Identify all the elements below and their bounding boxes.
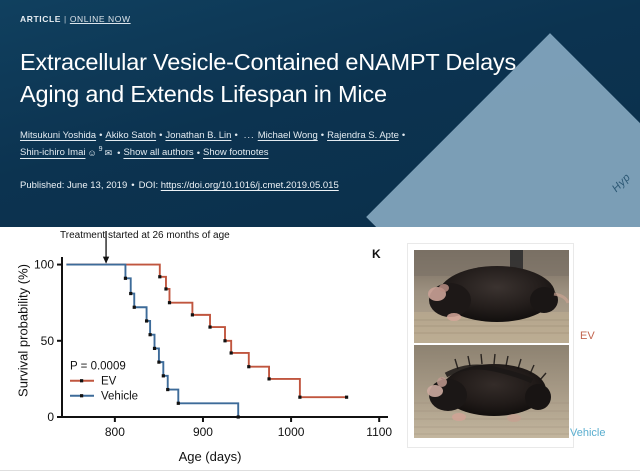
author-separator-0: • — [99, 127, 102, 145]
photo-label-vehicle: Vehicle — [570, 427, 605, 439]
event-marker — [164, 287, 167, 290]
article-figure-page: Hyp ARTICLE|ONLINE NOW Extracellular Ves… — [0, 0, 640, 475]
author-separator-5: • — [117, 145, 120, 163]
article-title: Extracellular Vesicle-Contained eNAMPT D… — [20, 46, 580, 111]
x-tick-label: 800 — [105, 425, 125, 439]
event-marker — [162, 374, 165, 377]
doi-link[interactable]: https://doi.org/10.1016/j.cmet.2019.05.0… — [161, 180, 339, 191]
legend-label-ev: EV — [101, 376, 117, 388]
event-marker — [153, 347, 156, 350]
published-label: Published: — [20, 180, 64, 191]
event-marker — [237, 415, 240, 418]
author-footnote-marker[interactable]: 9 — [99, 146, 103, 153]
author-separator-3: • — [321, 127, 324, 145]
show-all-authors-link[interactable]: Show all authors — [123, 148, 193, 159]
mouse-photo-vehicle — [414, 345, 569, 438]
event-marker — [168, 301, 171, 304]
kaplan-meier-plot: 05010080090010001100P = 0.0009EVVehicle — [0, 227, 400, 475]
event-marker — [157, 361, 160, 364]
x-axis-label: Age (days) — [120, 449, 300, 464]
publine-separator: • — [131, 180, 134, 191]
event-marker — [298, 396, 301, 399]
envelope-icon[interactable]: ✉ — [105, 148, 113, 158]
mouse-photo-panel — [407, 243, 574, 448]
x-tick-label: 1100 — [366, 425, 392, 439]
mouse-photo-ev — [414, 250, 569, 343]
event-marker — [208, 325, 211, 328]
treatment-arrow-head — [103, 257, 109, 264]
author-link-3[interactable]: Michael Wong — [258, 130, 318, 141]
y-axis-label: Survival probability (%) — [16, 246, 31, 416]
event-marker — [230, 351, 233, 354]
y-tick-label: 0 — [47, 410, 54, 424]
article-kicker: ARTICLE|ONLINE NOW — [20, 14, 620, 24]
censor-marker — [345, 396, 348, 399]
author-ellipsis: ... — [244, 130, 255, 141]
author-link-5[interactable]: Shin-ichiro Imai — [20, 148, 85, 159]
kicker-article-label: ARTICLE — [20, 14, 61, 24]
event-marker — [247, 365, 250, 368]
event-marker — [124, 277, 127, 280]
pvalue-label: P = 0.0009 — [70, 361, 126, 373]
published-date: June 13, 2019 — [67, 180, 127, 191]
author-link-1[interactable]: Akiko Satoh — [105, 130, 156, 141]
doi-label: DOI: — [139, 180, 159, 191]
event-marker — [166, 388, 169, 391]
event-marker — [149, 333, 152, 336]
x-tick-label: 1000 — [278, 425, 305, 439]
author-separator-4: • — [402, 127, 405, 145]
author-link-2[interactable]: Jonathan B. Lin — [165, 130, 231, 141]
x-tick-label: 900 — [193, 425, 213, 439]
legend-label-vehicle: Vehicle — [101, 391, 138, 403]
author-link-4[interactable]: Rajendra S. Apte — [327, 130, 399, 141]
event-marker — [191, 313, 194, 316]
author-separator-6: • — [197, 145, 200, 163]
article-header-banner: Hyp ARTICLE|ONLINE NOW Extracellular Ves… — [0, 0, 640, 227]
legend-marker — [80, 379, 83, 382]
y-tick-label: 100 — [34, 258, 54, 272]
legend-marker — [80, 394, 83, 397]
bottom-divider — [0, 470, 640, 471]
event-marker — [133, 306, 136, 309]
author-list: Mitsukuni Yoshida•Akiko Satoh•Jonathan B… — [20, 127, 550, 162]
profile-icon[interactable]: ☺ — [87, 148, 96, 158]
event-marker — [267, 377, 270, 380]
header-content: ARTICLE|ONLINE NOW Extracellular Vesicle… — [0, 0, 640, 227]
event-marker — [223, 339, 226, 342]
publication-line: Published: June 13, 2019•DOI: https://do… — [20, 180, 620, 191]
series-line-vehicle — [66, 265, 238, 417]
y-tick-label: 50 — [41, 334, 55, 348]
author-separator-1: • — [159, 127, 162, 145]
author-separator-2: • — [234, 127, 237, 145]
event-marker — [158, 275, 161, 278]
event-marker — [177, 402, 180, 405]
survival-chart: 05010080090010001100P = 0.0009EVVehicle … — [0, 227, 400, 475]
figure-panel: Treatment started at 26 months of age K … — [0, 227, 640, 475]
photo-label-ev: EV — [580, 330, 595, 342]
event-marker — [129, 292, 132, 295]
author-link-0[interactable]: Mitsukuni Yoshida — [20, 130, 96, 141]
show-footnotes-link[interactable]: Show footnotes — [203, 148, 269, 159]
kicker-separator: | — [64, 14, 67, 24]
kicker-status-link[interactable]: ONLINE NOW — [70, 14, 131, 24]
event-marker — [145, 319, 148, 322]
